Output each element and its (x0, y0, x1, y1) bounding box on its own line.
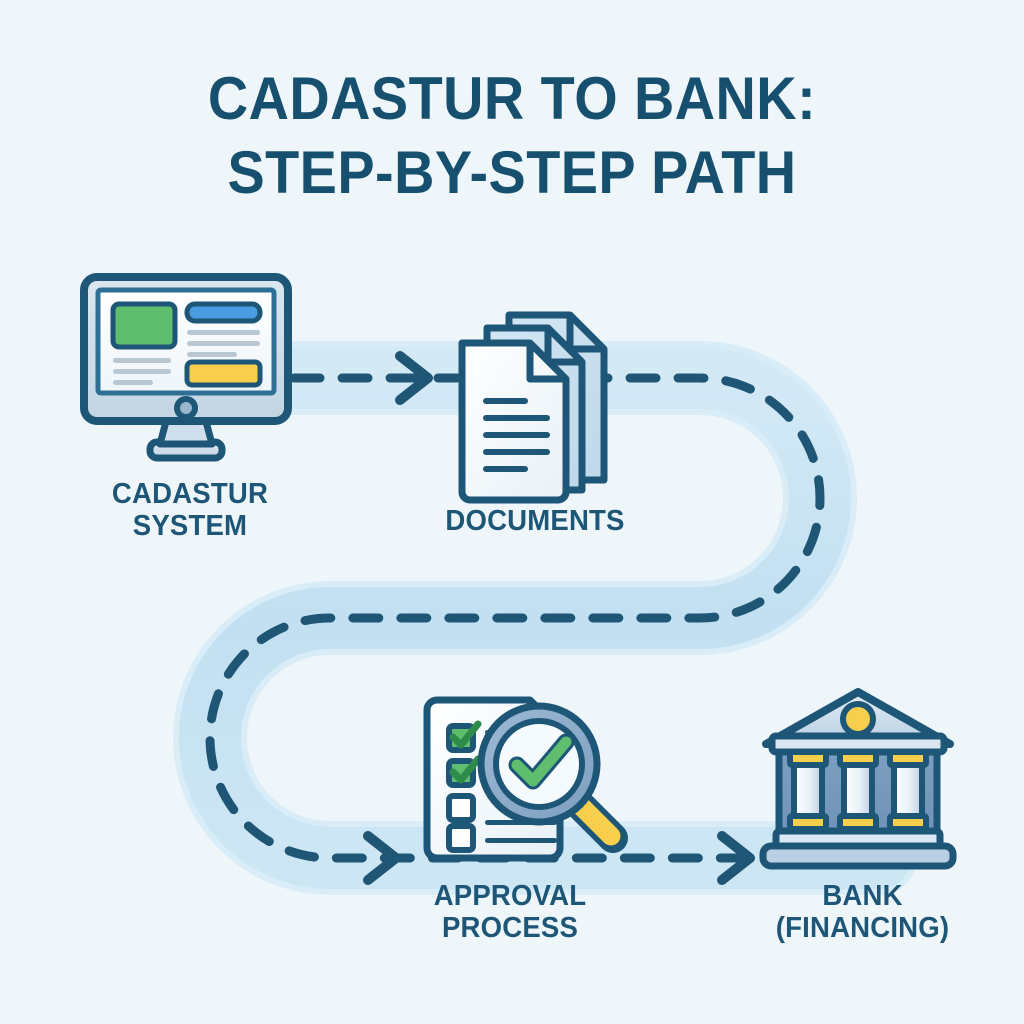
checkbox-empty-4[interactable] (449, 826, 473, 850)
bank-column-1 (790, 752, 826, 829)
magnifier-icon[interactable] (481, 706, 597, 822)
label-documents: Documents (407, 505, 664, 537)
checkbox-checked-1[interactable] (449, 724, 478, 750)
label-documents-line-1: Documents (407, 505, 664, 537)
label-cadastur-line-2: System (71, 510, 309, 542)
label-cadastur-system: Cadastur System (71, 478, 309, 542)
screen-blue-bar (187, 304, 260, 321)
label-bank-financing: Bank (Financing) (737, 880, 989, 944)
infographic-canvas: Cadastur to Bank: Step-by-Step Path Cada… (0, 0, 1024, 1024)
bank-column-2 (840, 752, 876, 829)
screen-yellow-button (187, 362, 260, 385)
bank-medallion (843, 704, 873, 734)
documents-stack-icon[interactable] (462, 315, 604, 500)
bank-building-icon[interactable] (763, 692, 953, 866)
label-bank-line-2: (Financing) (737, 912, 989, 944)
checkbox-checked-2[interactable] (449, 759, 478, 785)
checkbox-empty-3[interactable] (449, 796, 473, 820)
monitor-icon[interactable] (84, 277, 288, 458)
screen-green-panel (113, 304, 175, 347)
label-approval-line-2: Process (382, 912, 639, 944)
label-approval-line-1: Approval (382, 880, 639, 912)
label-bank-line-1: Bank (737, 880, 989, 912)
label-cadastur-line-1: Cadastur (71, 478, 309, 510)
label-approval-process: Approval Process (382, 880, 639, 944)
bank-column-3 (890, 752, 926, 829)
